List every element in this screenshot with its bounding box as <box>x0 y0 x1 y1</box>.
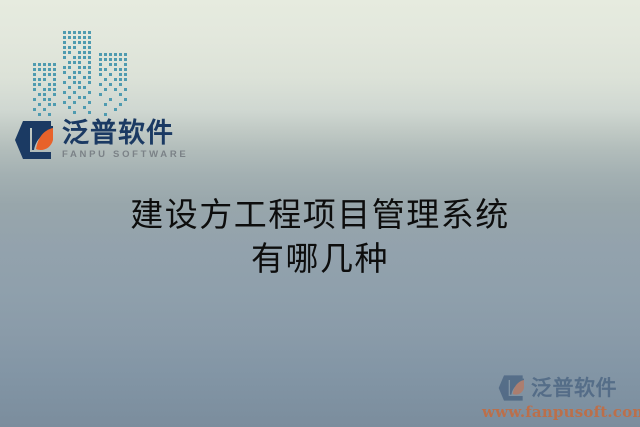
banner-canvas: 泛普软件 FANPU SOFTWARE 建设方工程项目管理系统 有哪几种 泛普软… <box>0 0 640 427</box>
brand-wordmark: 泛普软件 FANPU SOFTWARE <box>62 120 188 160</box>
brand-name-cn: 泛普软件 <box>62 120 188 147</box>
brand-name-en: FANPU SOFTWARE <box>62 150 188 160</box>
brand-lockup: 泛普软件 FANPU SOFTWARE <box>13 119 188 161</box>
fanpu-logo-mark-icon <box>13 119 57 161</box>
watermark-name-cn: 泛普软件 <box>531 378 617 399</box>
pixel-building-skyline-icon <box>32 20 136 118</box>
page-title-line-2: 有哪几种 <box>0 237 640 281</box>
page-title: 建设方工程项目管理系统 有哪几种 <box>0 193 640 281</box>
watermark-logo-row: 泛普软件 <box>482 374 632 402</box>
watermark-url: www.fanpusoft.com <box>482 403 632 421</box>
page-title-line-1: 建设方工程项目管理系统 <box>0 193 640 237</box>
watermark: 泛普软件 www.fanpusoft.com <box>482 374 632 421</box>
watermark-fanpu-logo-mark-icon <box>497 374 527 402</box>
